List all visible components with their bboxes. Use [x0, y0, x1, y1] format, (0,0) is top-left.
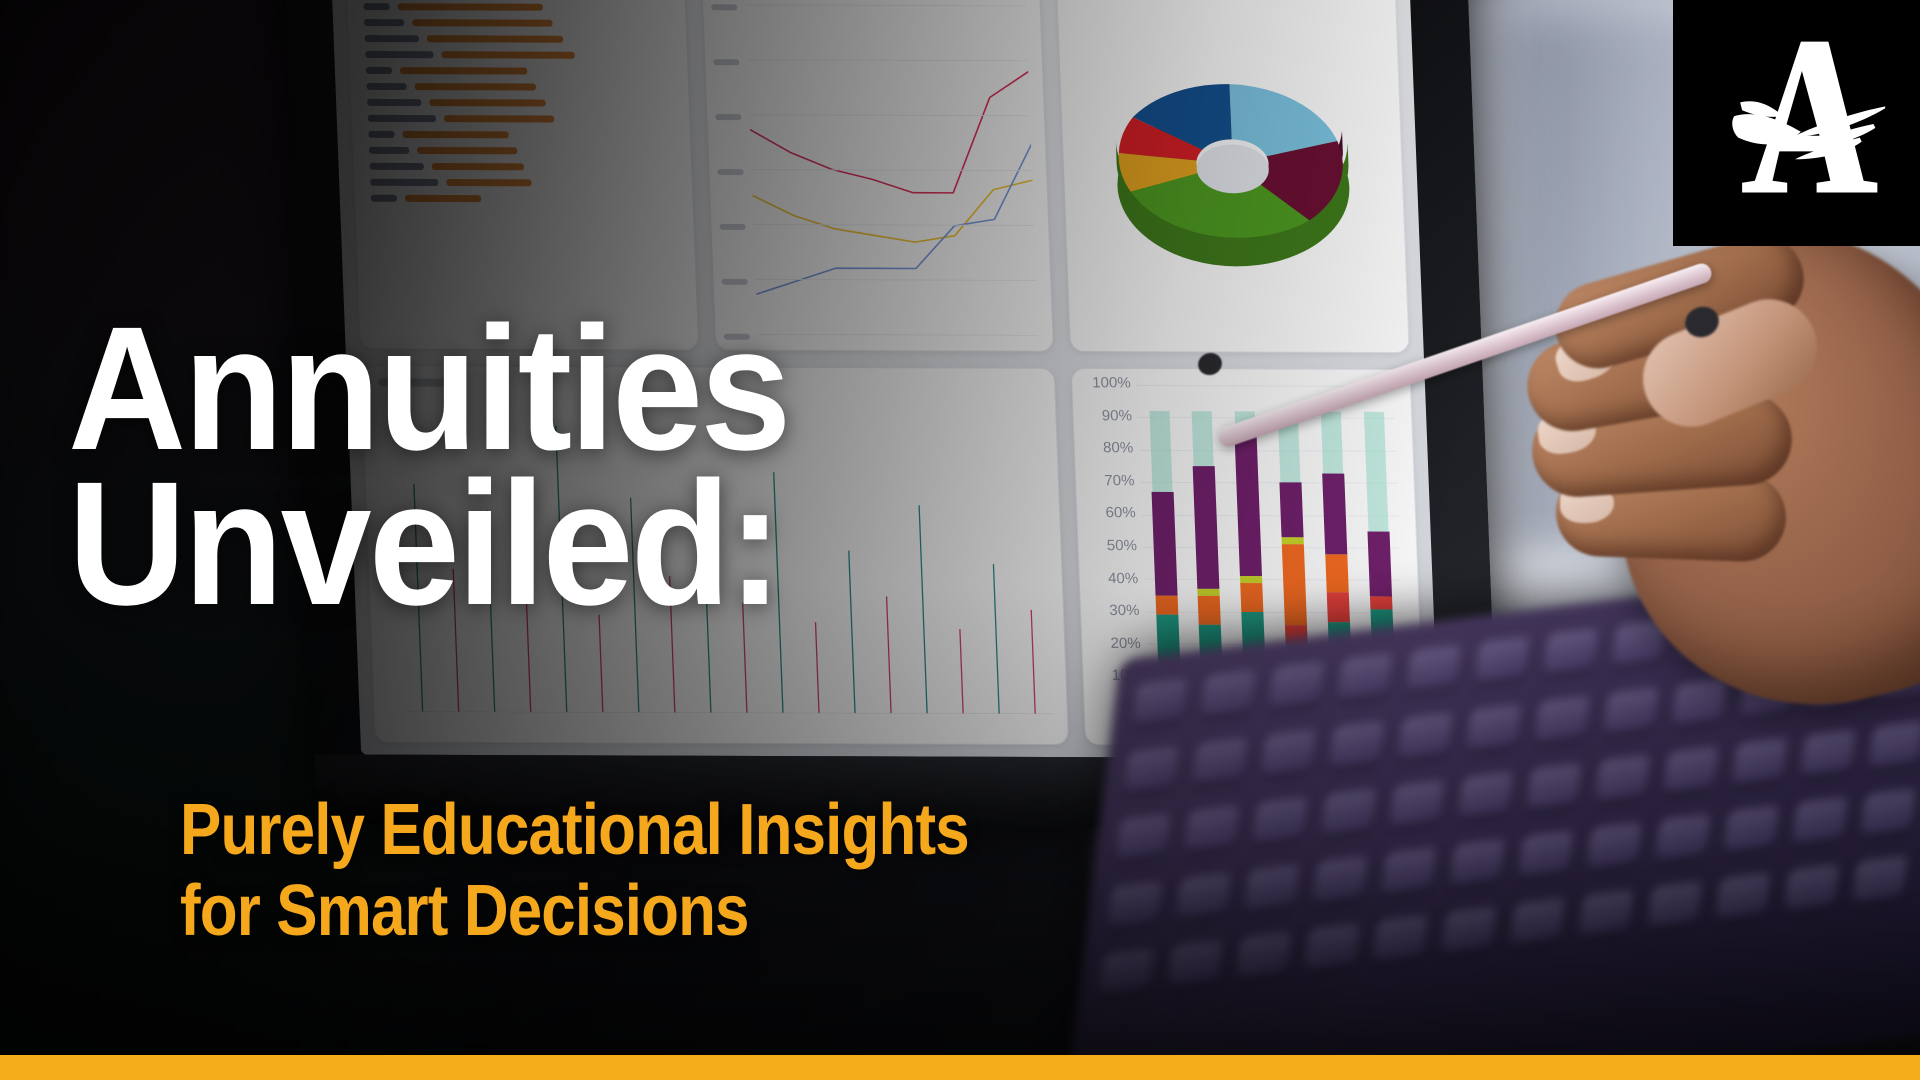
- letter-a-wing-icon: [1699, 32, 1895, 212]
- promo-banner: 0%10%20%30%40%50%60%70%80%90%100% 123456: [0, 0, 1920, 1080]
- bottom-accent-bar: [0, 1055, 1920, 1080]
- page-subtitle: Purely Educational Insights for Smart De…: [180, 790, 1195, 951]
- page-title: Annuities Unveiled:: [68, 312, 1165, 622]
- brand-logo[interactable]: A: [1673, 0, 1920, 246]
